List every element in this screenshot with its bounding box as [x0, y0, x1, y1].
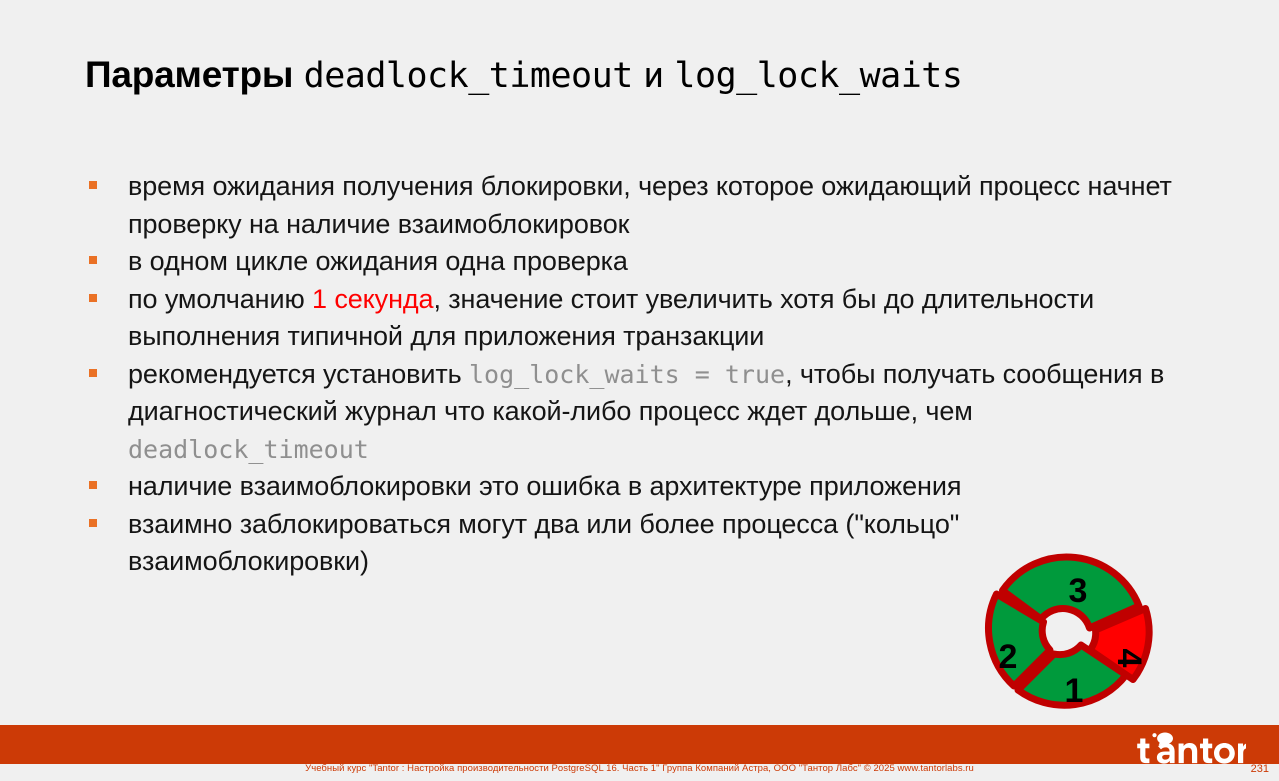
footer-copyright-text: Учебный курс "Tantor : Настройка произво…	[0, 763, 1279, 775]
bullet-marker-icon	[89, 256, 97, 264]
ring-label-4: 4	[1110, 649, 1148, 668]
title-param-deadlock-timeout: deadlock_timeout	[304, 56, 633, 96]
bullet-marker-icon	[89, 369, 97, 377]
bullet-text-segment: рекомендуется установить	[128, 359, 469, 389]
page-number: 231	[1251, 763, 1269, 776]
title-param-log-lock-waits: log_lock_waits	[674, 56, 962, 96]
bullet-marker-icon	[89, 519, 97, 527]
code-log-lock-waits: log_lock_waits = true	[469, 360, 785, 389]
code-deadlock-timeout: deadlock_timeout	[128, 435, 369, 464]
bullet-text-segment: время ожидания получения блокировки, чер…	[128, 171, 1172, 239]
list-item: наличие взаимоблокировки это ошибка в ар…	[85, 468, 1195, 506]
footer-bar	[0, 725, 1279, 764]
bullet-text-segment: наличие взаимоблокировки это ошибка в ар…	[128, 471, 961, 501]
bullet-list: время ожидания получения блокировки, чер…	[85, 168, 1195, 581]
tantor-dot-icon	[1152, 733, 1156, 737]
list-item: в одном цикле ожидания одна проверка	[85, 243, 1195, 281]
deadlock-ring-diagram: 3 2 1 4	[957, 536, 1189, 726]
tantor-logo	[1136, 731, 1246, 765]
bullet-marker-icon	[89, 294, 97, 302]
list-item: время ожидания получения блокировки, чер…	[85, 168, 1195, 243]
bullet-text-segment: в одном цикле ожидания одна проверка	[128, 246, 628, 276]
list-item: рекомендуется установить log_lock_waits …	[85, 356, 1195, 469]
bullet-default-value: по умолчанию 1 секунда, значение стоит у…	[128, 284, 1094, 352]
bullet-architecture-error: наличие взаимоблокировки это ошибка в ар…	[128, 471, 961, 501]
bullet-text-segment: взаимно заблокироваться могут два или бо…	[128, 509, 959, 577]
slide-canvas: Параметры deadlock_timeout и log_lock_wa…	[0, 0, 1279, 781]
bullet-marker-icon	[89, 181, 97, 189]
bullet-ring: взаимно заблокироваться могут два или бо…	[128, 509, 959, 577]
bullet-text-segment: по умолчанию	[128, 284, 312, 314]
list-item: по умолчанию 1 секунда, значение стоит у…	[85, 281, 1195, 356]
highlight-default-value: 1 секунда	[312, 284, 433, 314]
bullet-marker-icon	[89, 481, 97, 489]
ring-label-1: 1	[1065, 672, 1084, 710]
ring-label-3: 3	[1069, 572, 1088, 610]
title-conjunction: и	[643, 56, 664, 96]
bullet-recommendation: рекомендуется установить log_lock_waits …	[128, 359, 1164, 464]
title-prefix: Параметры	[85, 54, 293, 95]
ring-label-2: 2	[999, 638, 1018, 676]
page-title: Параметры deadlock_timeout и log_lock_wa…	[85, 52, 962, 99]
bullet-one-check: в одном цикле ожидания одна проверка	[128, 246, 628, 276]
bullet-wait-time: время ожидания получения блокировки, чер…	[128, 171, 1172, 239]
